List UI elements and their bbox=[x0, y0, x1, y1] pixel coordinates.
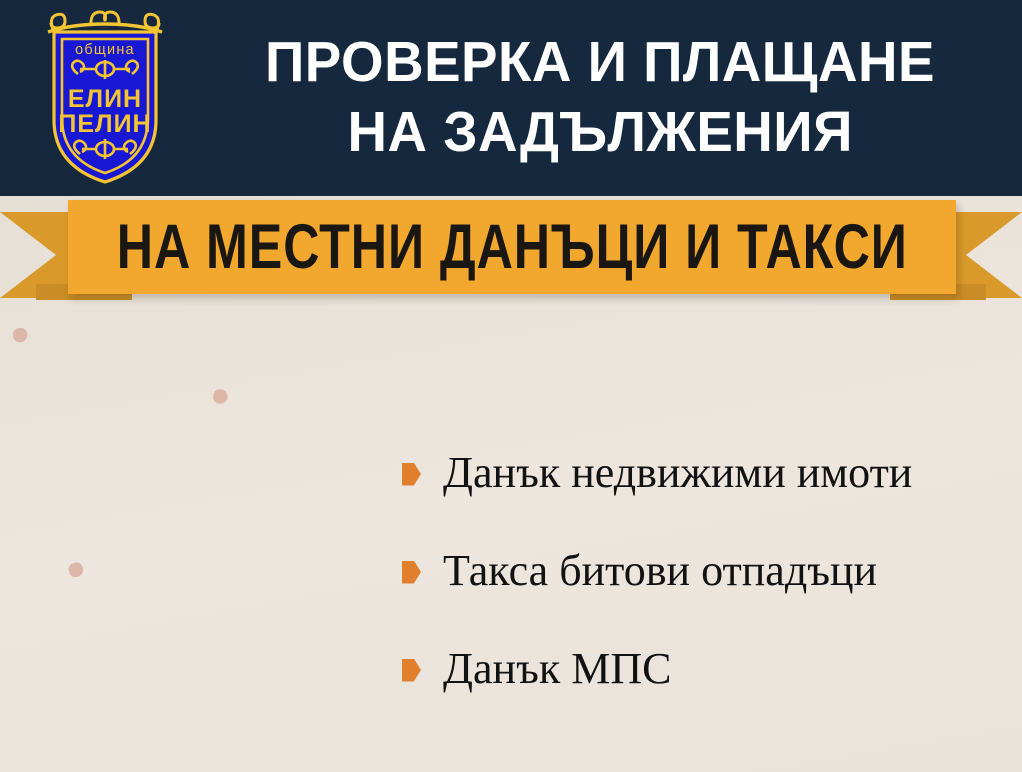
page-title-line-2: НА ЗАДЪЛЖЕНИЯ bbox=[347, 98, 852, 168]
car-front-icon bbox=[131, 577, 263, 698]
list-item-label: Такса битови отпадъци bbox=[443, 549, 877, 593]
tax-types-list: Данък недвижими имоти Такса битови отпад… bbox=[402, 424, 1014, 718]
ribbon-banner: НА МЕСТНИ ДАНЪЦИ И ТАКСИ bbox=[0, 196, 1022, 312]
list-item-label: Данък недвижими имоти bbox=[443, 451, 912, 495]
stamp-paper bbox=[42, 338, 197, 493]
page-title-line-1: ПРОВЕРКА И ПЛАЩАНЕ bbox=[265, 28, 935, 98]
coat-of-arms-icon: община ЕЛИН ПЕЛИН bbox=[32, 8, 178, 186]
municipality-logo: община ЕЛИН ПЕЛИН bbox=[32, 8, 178, 186]
logo-text-obshtina: община bbox=[75, 42, 135, 58]
list-item-label: Данък МПС bbox=[443, 647, 671, 691]
logo-text-elin: ЕЛИН bbox=[68, 85, 142, 113]
arrow-bullet-icon bbox=[402, 463, 421, 486]
arrow-bullet-icon bbox=[402, 659, 421, 682]
list-item[interactable]: Такса битови отпадъци bbox=[402, 522, 1014, 620]
logo-text-pelin: ПЕЛИН bbox=[58, 110, 151, 138]
page-title: ПРОВЕРКА И ПЛАЩАНЕ НА ЗАДЪЛЖЕНИЯ bbox=[190, 18, 1010, 178]
house-icon bbox=[63, 363, 176, 469]
ribbon-band: НА МЕСТНИ ДАНЪЦИ И ТАКСИ bbox=[68, 200, 956, 294]
arrow-bullet-icon bbox=[402, 561, 421, 584]
list-item[interactable]: Данък недвижими имоти bbox=[402, 424, 1014, 522]
ribbon-label: НА МЕСТНИ ДАНЪЦИ И ТАКСИ bbox=[116, 211, 907, 283]
poster-canvas: община ЕЛИН ПЕЛИН ПРОВЕРКА И ПЛАЩАНЕ НА … bbox=[0, 0, 1022, 772]
stamp-card-property bbox=[12, 308, 227, 523]
list-item[interactable]: Данък МПС bbox=[402, 620, 1014, 718]
